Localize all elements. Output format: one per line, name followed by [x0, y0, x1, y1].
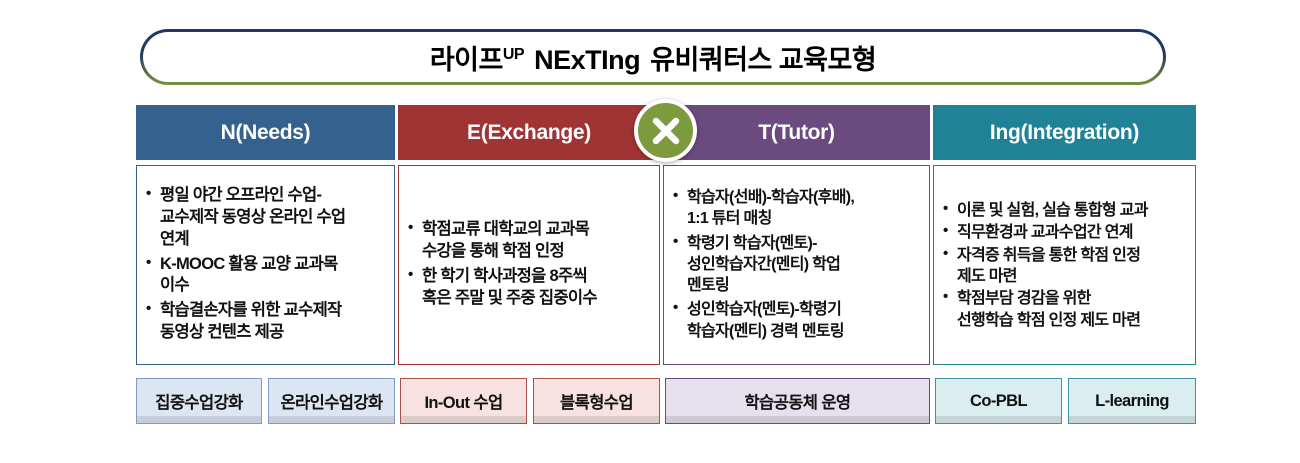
- badge-l-learning[interactable]: L-learning: [1068, 378, 1196, 424]
- badge-co-pbl[interactable]: Co-PBL: [935, 378, 1062, 424]
- badge-label: 온라인수업강화: [280, 389, 382, 413]
- title-superscript: UP: [503, 46, 524, 63]
- bullet-list-exchange: 학점교류 대학교의 교과목 수강을 통해 학점 인정 한 학기 학사과정을 8주…: [407, 219, 653, 313]
- badge-label: In-Out 수업: [424, 389, 502, 413]
- column-exchange: E(Exchange) 학점교류 대학교의 교과목 수강을 통해 학점 인정 한…: [398, 105, 660, 365]
- column-tutor: T(Tutor) 학습자(선배)-학습자(후배), 1:1 튜터 매칭 학령기 …: [663, 105, 930, 365]
- list-item: 평일 야간 오프라인 수업- 교수제작 동영상 온라인 수업 연계: [145, 185, 388, 251]
- list-item: 이론 및 실험, 실습 통합형 교과: [942, 200, 1189, 221]
- column-needs: N(Needs) 평일 야간 오프라인 수업- 교수제작 동영상 온라인 수업 …: [136, 105, 395, 365]
- bullet-list-tutor: 학습자(선배)-학습자(후배), 1:1 튜터 매칭 학령기 학습자(멘토)- …: [672, 187, 923, 345]
- list-item: 학점부담 경감을 위한 선행학습 학점 인정 제도 마련: [942, 288, 1189, 331]
- list-item: K-MOOC 활용 교양 교과목 이수: [145, 254, 388, 298]
- column-integration: Ing(Integration) 이론 및 실험, 실습 통합형 교과 직무환경…: [933, 105, 1196, 365]
- title-prefix: 라이프: [430, 45, 503, 75]
- badge-intensive-class[interactable]: 집중수업강화: [136, 378, 262, 424]
- column-header-exchange: E(Exchange): [398, 105, 660, 160]
- badge-online-class[interactable]: 온라인수업강화: [268, 378, 395, 424]
- badge-learning-community[interactable]: 학습공동체 운영: [665, 378, 930, 424]
- x-mark-icon: [634, 99, 697, 162]
- list-item: 학습결손자를 위한 교수제작 동영상 컨텐츠 제공: [145, 300, 388, 344]
- column-body-tutor: 학습자(선배)-학습자(후배), 1:1 튜터 매칭 학령기 학습자(멘토)- …: [663, 165, 930, 365]
- badge-label: 학습공동체 운영: [744, 389, 850, 413]
- list-item: 성인학습자(멘토)-학령기 학습자(멘티) 경력 멘토링: [672, 299, 923, 342]
- list-item: 한 학기 학사과정을 8주씩 혹은 주말 및 주중 집중이수: [407, 266, 653, 310]
- list-item: 직무환경과 교과수업간 연계: [942, 222, 1189, 243]
- title-suffix: 유비쿼터스 교육모형: [650, 45, 876, 75]
- list-item: 학습자(선배)-학습자(후배), 1:1 튜터 매칭: [672, 187, 923, 230]
- list-item: 자격증 취득을 통한 학점 인정 제도 마련: [942, 245, 1189, 288]
- list-item: 학점교류 대학교의 교과목 수강을 통해 학점 인정: [407, 219, 653, 263]
- badge-label: 블록형수업: [560, 389, 633, 413]
- badge-label: Co-PBL: [970, 392, 1027, 411]
- page-title: 라이프UPNExTIng유비쿼터스 교육모형: [430, 38, 876, 77]
- column-header-integration: Ing(Integration): [933, 105, 1196, 160]
- title-middle: NExTIng: [534, 45, 640, 75]
- diagram-title-pill: 라이프UPNExTIng유비쿼터스 교육모형: [140, 29, 1166, 85]
- ubiquitous-education-model-diagram: 라이프UPNExTIng유비쿼터스 교육모형 N(Needs) 평일 야간 오프…: [0, 0, 1300, 463]
- bullet-list-integration: 이론 및 실험, 실습 통합형 교과 직무환경과 교과수업간 연계 자격증 취득…: [942, 200, 1189, 332]
- list-item: 학령기 학습자(멘토)- 성인학습자간(멘티) 학업 멘토링: [672, 233, 923, 297]
- badge-block-class[interactable]: 블록형수업: [533, 378, 660, 424]
- column-body-integration: 이론 및 실험, 실습 통합형 교과 직무환경과 교과수업간 연계 자격증 취득…: [933, 165, 1196, 365]
- column-body-exchange: 학점교류 대학교의 교과목 수강을 통해 학점 인정 한 학기 학사과정을 8주…: [398, 165, 660, 365]
- column-body-needs: 평일 야간 오프라인 수업- 교수제작 동영상 온라인 수업 연계 K-MOOC…: [136, 165, 395, 365]
- badge-label: L-learning: [1095, 392, 1169, 411]
- badge-in-out-class[interactable]: In-Out 수업: [400, 378, 527, 424]
- badge-label: 집중수업강화: [155, 389, 242, 413]
- column-header-tutor: T(Tutor): [663, 105, 930, 160]
- bullet-list-needs: 평일 야간 오프라인 수업- 교수제작 동영상 온라인 수업 연계 K-MOOC…: [145, 185, 388, 348]
- column-header-needs: N(Needs): [136, 105, 395, 160]
